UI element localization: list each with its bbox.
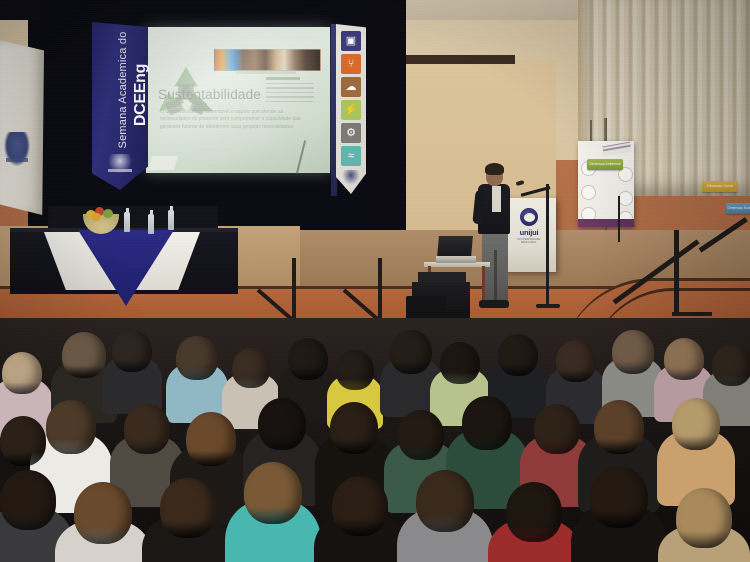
audience-person-head [0, 470, 56, 530]
gear-icon: ⚙ [341, 123, 361, 143]
unijui-logo-icon [108, 154, 132, 174]
podium-brand: unijui [512, 228, 546, 237]
audience-person-head [612, 330, 654, 374]
audience-person-head [440, 342, 480, 384]
fruit-item [92, 213, 101, 221]
backdrop-black-right [372, 0, 406, 250]
railing-foot [672, 312, 712, 316]
computer-icon: ▣ [341, 31, 361, 51]
presenter-shirt [492, 186, 501, 212]
white-flag [0, 40, 44, 215]
poster-right: Dimensao Ambiental Dimensao Social Dimen… [578, 141, 634, 227]
audience-person-head [74, 482, 132, 544]
laptop-screen [437, 236, 473, 257]
audience-person-head [498, 334, 538, 376]
audience-person-head [112, 330, 152, 372]
audience-person-head [124, 404, 170, 454]
banner-line-2: DCEEng [132, 30, 150, 160]
equipment-case [406, 296, 446, 320]
laptop-table-leg [482, 266, 485, 300]
railing-post [674, 230, 679, 316]
audience-person-head [160, 478, 216, 538]
banner-line-1: Semana Academica do [117, 25, 129, 155]
audience-person-head [594, 400, 644, 454]
audience-person-head [330, 402, 378, 454]
poster-heading [602, 142, 631, 157]
banner-text-group: Semana Academica do DCEEng [92, 22, 148, 190]
slide-title: Sustentabilidade [158, 87, 328, 102]
bolt-icon: ⚡ [341, 100, 361, 120]
audience-person-head [672, 398, 720, 450]
slide-body-text: O desenvolvimento sustentavel e aquele q… [160, 109, 310, 131]
presenter-shoes [479, 300, 509, 308]
podium-logo: unijui UNIVERSIDADE REGIONAL [514, 208, 544, 232]
audience-person-head [398, 410, 444, 460]
banner-icons-logo [342, 170, 360, 185]
cloud-icon: ☁ [341, 77, 361, 97]
laptop-keyboard [436, 256, 476, 263]
water-icon: ≈ [341, 146, 361, 166]
audience-person-head [2, 352, 42, 394]
audience-person-head [232, 348, 270, 388]
audience-person-head [258, 398, 306, 450]
audience-person-head [664, 338, 704, 380]
microphone-stand-2 [618, 196, 620, 242]
microphone-base [536, 304, 560, 308]
audience-person-head [0, 416, 46, 466]
poster-bar-0: Dimensao Ambiental [587, 159, 623, 170]
poster-bar-1: Dimensao Social [702, 181, 738, 192]
water-bottle [148, 214, 154, 234]
audience-person-head [176, 336, 218, 380]
audience-person-head [46, 400, 96, 454]
unijui-mark-icon [520, 208, 538, 226]
audience-person-head [288, 338, 328, 380]
slide-strip-caption [236, 70, 296, 74]
audience-person-head [244, 462, 302, 524]
audience-person-head [556, 340, 596, 382]
audience-person-head [676, 488, 732, 548]
water-bottle [168, 210, 174, 230]
podium-subtitle: UNIVERSIDADE REGIONAL [512, 238, 546, 244]
fruit-item [103, 209, 113, 218]
poster-footer [578, 219, 634, 227]
audience-person-head [462, 396, 512, 450]
audience-person-head [336, 350, 374, 390]
audience-person-head [332, 476, 388, 536]
screen-bottom-tab [148, 156, 179, 170]
person-icon: ⑂ [341, 54, 361, 74]
audience-person-head [390, 330, 432, 374]
banner-icons: ▣ ⑂ ☁ ⚡ ⚙ ≈ [336, 24, 366, 194]
audience-person-head [416, 470, 474, 532]
poster-bar-2: Dimensao Economica [726, 203, 750, 214]
audience-person-head [712, 344, 750, 386]
presenter-hair [485, 163, 504, 175]
backdrop-black-corner [0, 0, 40, 20]
auditorium-photo: Sustentabilidade O desenvolvimento suste… [0, 0, 750, 562]
audience-person-head [62, 332, 106, 378]
audience-person-head [506, 482, 562, 542]
slide-photo-strip [214, 49, 321, 71]
audience-person-head [186, 412, 236, 466]
water-bottle [124, 212, 130, 232]
audience-person-head [534, 404, 580, 454]
audience-person-head [590, 466, 648, 528]
microphone-stand [546, 184, 549, 308]
institution-crest-icon [4, 132, 30, 166]
